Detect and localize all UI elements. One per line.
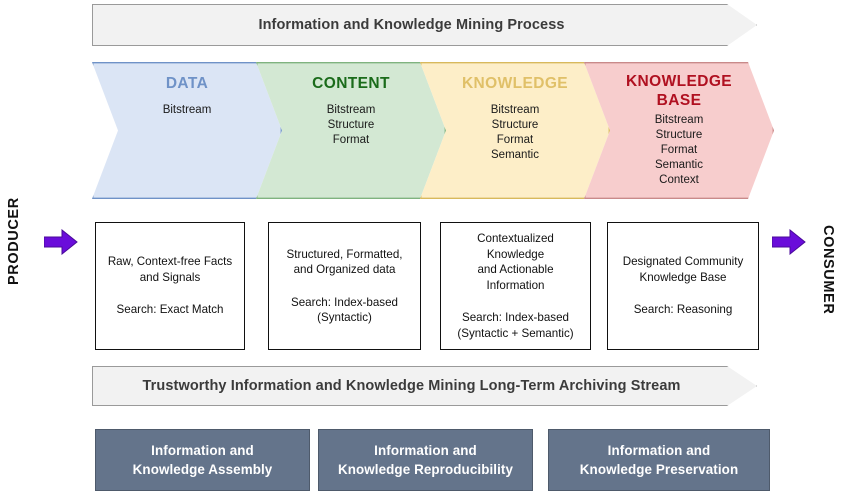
attribute-item: Bitstream — [655, 113, 704, 128]
description-line: Raw, Context-free Facts — [108, 254, 232, 270]
stage-title-data: DATA — [166, 74, 208, 93]
attribute-item: Bitstream — [491, 103, 540, 118]
stage-title-content: CONTENT — [312, 74, 390, 93]
stage-title-line2: BASE — [626, 91, 732, 110]
search-line: Search: Reasoning — [634, 302, 733, 318]
attribute-item: Bitstream — [327, 103, 376, 118]
attribute-item: Semantic — [655, 158, 704, 173]
stage-attributes-content: Bitstream Structure Format — [327, 103, 376, 148]
process-banner: Information and Knowledge Mining Process — [92, 4, 757, 46]
bottom-box-line: Knowledge Reproducibility — [338, 460, 513, 479]
bottom-box-line: Knowledge Assembly — [133, 460, 273, 479]
description-line: and Organized data — [287, 262, 403, 278]
stage-title-knowledge-base: KNOWLEDGE BASE — [626, 72, 732, 110]
description-text: Contextualized Knowledge and Actionable … — [447, 231, 584, 293]
attribute-item: Structure — [491, 118, 540, 133]
stage-chevron-knowledge-base[interactable]: KNOWLEDGE BASE Bitstream Structure Forma… — [584, 62, 774, 199]
attribute-item: Format — [655, 143, 704, 158]
stage-title-knowledge: KNOWLEDGE — [462, 74, 568, 93]
bottom-box-line: Information and — [133, 441, 273, 460]
description-text: Raw, Context-free Facts and Signals — [108, 254, 232, 285]
description-box-content[interactable]: Structured, Formatted, and Organized dat… — [268, 222, 421, 350]
description-box-knowledge-base[interactable]: Designated Community Knowledge Base Sear… — [607, 222, 759, 350]
diagram-canvas: Information and Knowledge Mining Process… — [0, 0, 853, 497]
consumer-label: CONSUMER — [820, 225, 836, 314]
bottom-box-label: Information and Knowledge Reproducibilit… — [338, 441, 513, 479]
attribute-item: Bitstream — [163, 103, 212, 118]
description-line: Designated Community — [623, 254, 744, 270]
stage-chevron-knowledge[interactable]: KNOWLEDGE Bitstream Structure Format Sem… — [420, 62, 610, 199]
search-text: Search: Reasoning — [634, 302, 733, 318]
archiving-banner-label: Trustworthy Information and Knowledge Mi… — [143, 378, 681, 394]
search-line: (Syntactic) — [291, 310, 398, 326]
producer-arrow-icon — [44, 229, 78, 255]
bottom-box-line: Information and — [580, 441, 738, 460]
search-line: (Syntactic + Semantic) — [457, 326, 573, 342]
bottom-box-line: Information and — [338, 441, 513, 460]
search-line: Search: Index-based — [457, 310, 573, 326]
stage-chevron-data[interactable]: DATA Bitstream — [92, 62, 282, 199]
description-text: Designated Community Knowledge Base — [623, 254, 744, 285]
attribute-item: Structure — [327, 118, 376, 133]
description-box-data[interactable]: Raw, Context-free Facts and Signals Sear… — [95, 222, 245, 350]
attribute-item: Structure — [655, 128, 704, 143]
bottom-box-assembly[interactable]: Information and Knowledge Assembly — [95, 429, 310, 491]
description-line: Contextualized Knowledge — [447, 231, 584, 262]
bottom-box-label: Information and Knowledge Assembly — [133, 441, 273, 479]
producer-label: PRODUCER — [6, 197, 22, 285]
attribute-item: Format — [491, 133, 540, 148]
attribute-item: Semantic — [491, 148, 540, 163]
search-line: Search: Exact Match — [117, 302, 224, 318]
search-text: Search: Index-based (Syntactic + Semanti… — [457, 310, 573, 341]
search-line: Search: Index-based — [291, 295, 398, 311]
bottom-box-preservation[interactable]: Information and Knowledge Preservation — [548, 429, 770, 491]
description-line: Knowledge Base — [623, 270, 744, 286]
stage-chevron-content[interactable]: CONTENT Bitstream Structure Format — [256, 62, 446, 199]
stage-title-line1: KNOWLEDGE — [626, 72, 732, 91]
process-banner-label: Information and Knowledge Mining Process — [258, 17, 564, 33]
stage-attributes-knowledge: Bitstream Structure Format Semantic — [491, 103, 540, 163]
description-line: and Actionable Information — [447, 262, 584, 293]
attribute-item: Context — [655, 173, 704, 188]
description-box-knowledge[interactable]: Contextualized Knowledge and Actionable … — [440, 222, 591, 350]
stage-attributes-data: Bitstream — [163, 103, 212, 118]
archiving-banner: Trustworthy Information and Knowledge Mi… — [92, 366, 757, 406]
search-text: Search: Exact Match — [117, 302, 224, 318]
description-line: Structured, Formatted, — [287, 247, 403, 263]
stage-attributes-knowledge-base: Bitstream Structure Format Semantic Cont… — [655, 113, 704, 188]
description-line: and Signals — [108, 270, 232, 286]
attribute-item: Format — [327, 133, 376, 148]
bottom-box-line: Knowledge Preservation — [580, 460, 738, 479]
search-text: Search: Index-based (Syntactic) — [291, 295, 398, 326]
description-text: Structured, Formatted, and Organized dat… — [287, 247, 403, 278]
consumer-arrow-icon — [772, 229, 806, 255]
bottom-box-label: Information and Knowledge Preservation — [580, 441, 738, 479]
bottom-box-reproducibility[interactable]: Information and Knowledge Reproducibilit… — [318, 429, 533, 491]
